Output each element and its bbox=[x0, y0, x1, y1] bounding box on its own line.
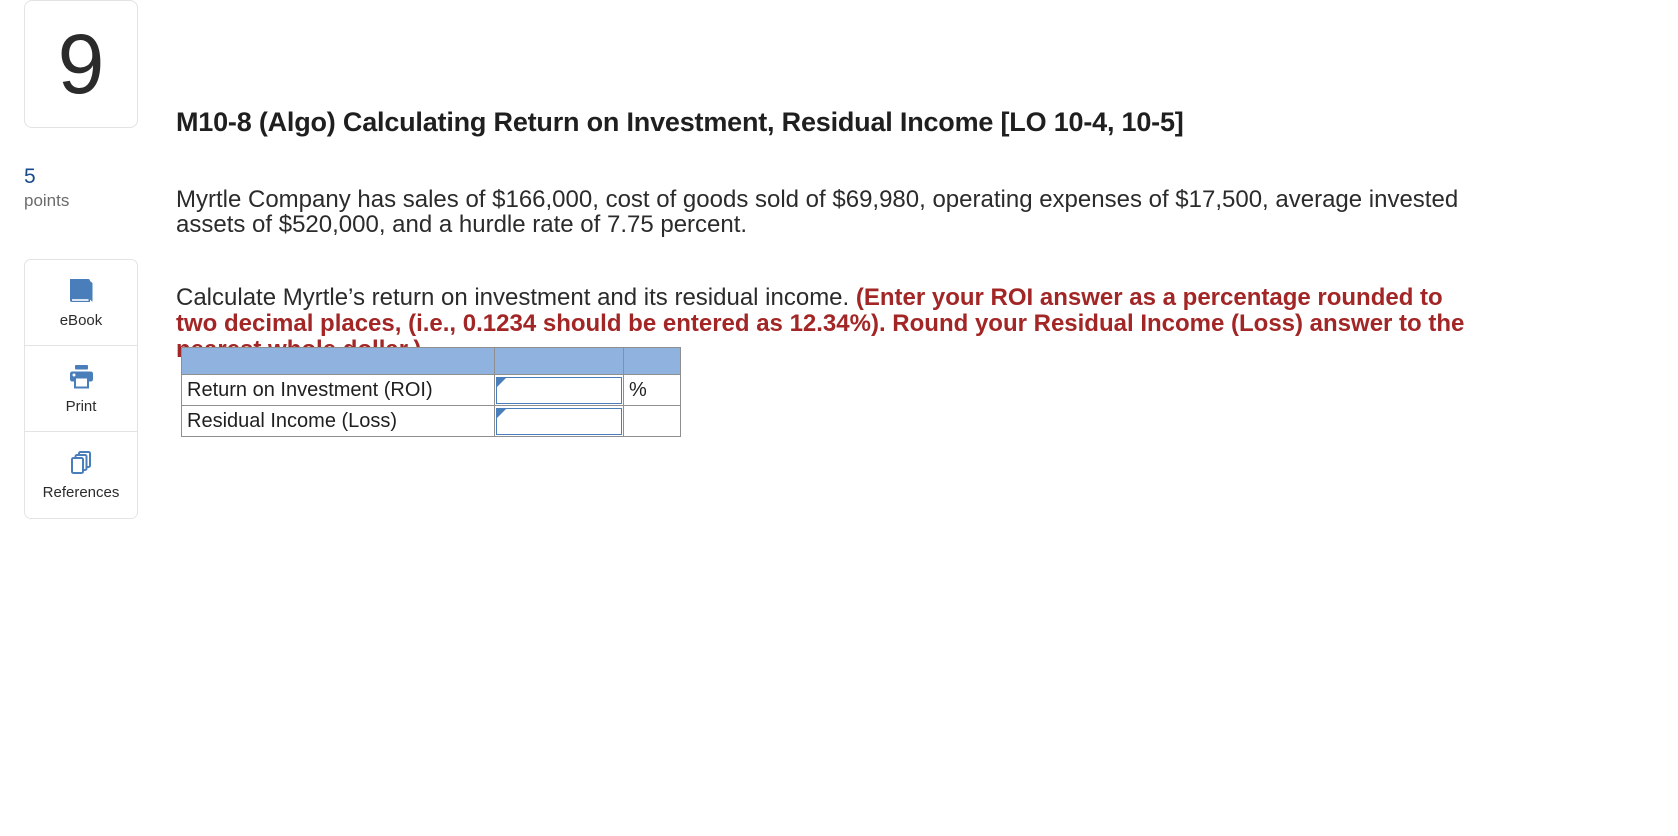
residual-income-unit-cell bbox=[624, 406, 681, 437]
print-label: Print bbox=[66, 398, 97, 415]
roi-input[interactable] bbox=[497, 378, 621, 403]
row-label-roi: Return on Investment (ROI) bbox=[182, 375, 495, 406]
table-header-row bbox=[182, 348, 681, 375]
points-block: 5 points bbox=[24, 165, 138, 211]
header-cell-value bbox=[495, 348, 624, 375]
header-cell-label bbox=[182, 348, 495, 375]
left-rail: 9 5 points bbox=[24, 0, 138, 211]
table-row: Residual Income (Loss) bbox=[182, 406, 681, 437]
book-icon bbox=[66, 277, 96, 305]
header-cell-unit bbox=[624, 348, 681, 375]
residual-income-input[interactable] bbox=[497, 409, 621, 434]
ebook-label: eBook bbox=[60, 312, 103, 329]
tool-button-stack: eBook Print References bbox=[24, 259, 138, 519]
question-page: 9 5 points eBook bbox=[0, 0, 1678, 836]
residual-income-input-box[interactable] bbox=[496, 408, 622, 435]
ebook-button[interactable]: eBook bbox=[25, 260, 137, 346]
references-button[interactable]: References bbox=[25, 432, 137, 518]
problem-statement: Myrtle Company has sales of $166,000, co… bbox=[176, 187, 1461, 237]
roi-label-text: Return on Investment (ROI) bbox=[182, 379, 494, 401]
copy-pages-icon bbox=[66, 449, 96, 477]
residual-income-label-text: Residual Income (Loss) bbox=[182, 410, 494, 432]
printer-icon bbox=[66, 363, 96, 391]
page-title: M10-8 (Algo) Calculating Return on Inves… bbox=[176, 104, 1184, 140]
roi-unit-text: % bbox=[624, 379, 680, 401]
roi-input-cell[interactable] bbox=[495, 375, 624, 406]
roi-input-box[interactable] bbox=[496, 377, 622, 404]
print-button[interactable]: Print bbox=[25, 346, 137, 432]
points-value: 5 bbox=[24, 165, 138, 189]
answer-table: Return on Investment (ROI) % bbox=[181, 347, 681, 437]
question-number: 9 bbox=[58, 22, 105, 106]
points-label: points bbox=[24, 190, 138, 211]
answer-table-wrapper: Return on Investment (ROI) % bbox=[181, 347, 681, 437]
table-row: Return on Investment (ROI) % bbox=[182, 375, 681, 406]
row-label-residual-income: Residual Income (Loss) bbox=[182, 406, 495, 437]
residual-income-input-cell[interactable] bbox=[495, 406, 624, 437]
references-label: References bbox=[43, 484, 120, 501]
instruction-plain-text: Calculate Myrtle’s return on investment … bbox=[176, 284, 856, 311]
question-number-box: 9 bbox=[24, 0, 138, 128]
roi-unit-cell: % bbox=[624, 375, 681, 406]
